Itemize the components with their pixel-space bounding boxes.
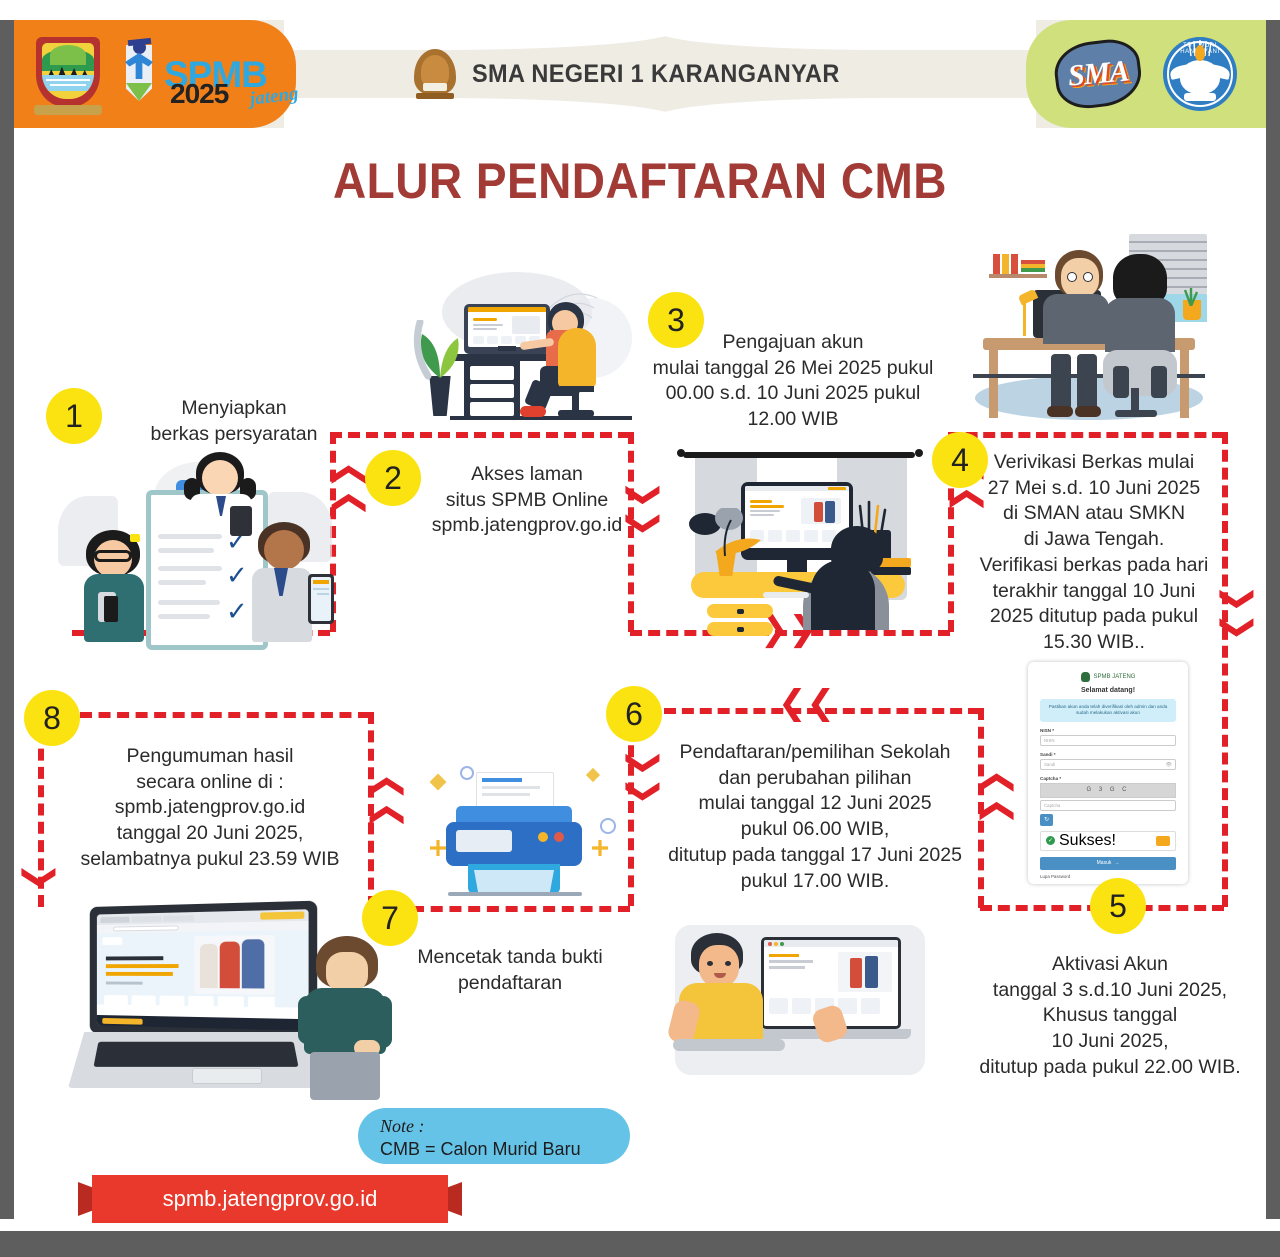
note-label: Note : (380, 1116, 616, 1137)
jateng-provincial-emblem-icon (32, 33, 104, 115)
sma-badge-label: SMA (1066, 54, 1129, 93)
step-text-4: Verivikasi Berkas mulai 27 Mei s.d. 10 J… (968, 450, 1220, 656)
step-badge-8: 8 (24, 690, 80, 746)
step-text-1: Menyiapkan berkas persyaratan (96, 396, 372, 447)
frame-bottom-border (0, 1231, 1280, 1257)
arrow-2-up: ❯❯ (329, 461, 363, 518)
note-content: CMB = Calon Murid Baru (380, 1139, 616, 1160)
spmb-logo: SPMB 2025 jateng (116, 31, 267, 117)
infographic-page: SPMB 2025 jateng SMA NEGERI 1 KARANGANYA… (0, 0, 1280, 1257)
arrow-8-down: ❯ (23, 863, 57, 892)
student-girl-pigtails (180, 452, 264, 530)
tut-wuri-handayani-logo-icon: TUT WURI HANDAYANI (1163, 37, 1237, 111)
laptop-browser-mock (97, 909, 309, 1030)
form-nisn-label: NISN * (1040, 728, 1176, 733)
step-badge-4: 4 (932, 432, 988, 488)
frame-top-spacer (0, 0, 1280, 20)
frame-right-border (1266, 0, 1280, 1257)
arrow-6-left: ❯❯ (778, 690, 835, 724)
frame-left-border (0, 0, 14, 1257)
step-badge-3: 3 (648, 292, 704, 348)
spmb-pencil-figure-icon (116, 39, 162, 109)
step-badge-6: 6 (606, 686, 662, 742)
step-text-7: Mencetak tanda bukti pendaftaran (380, 945, 640, 996)
connector-4-top-horizontal (948, 432, 1224, 438)
form-recaptcha-widget[interactable]: ✓ Sukses! (1040, 831, 1176, 851)
form-alert-message: Pastikan akun anda telah diverifikasi ol… (1040, 699, 1176, 722)
header-center: SMA NEGERI 1 KARANGANYAR (414, 20, 863, 128)
connector-7-bottom-horizontal (412, 906, 630, 912)
page-header: SPMB 2025 jateng SMA NEGERI 1 KARANGANYA… (14, 20, 1266, 128)
check-icon: ✓ (1046, 836, 1055, 845)
plant-decor-icon (685, 508, 771, 560)
plant-leaves-icon (410, 320, 470, 380)
school-name-title: SMA NEGERI 1 KARANGANYAR (472, 60, 840, 89)
form-brand: SPMB JATENG (1040, 672, 1176, 682)
header-right-panel: SMA TUT WURI HANDAYANI (1026, 20, 1266, 128)
step-text-2: Akses laman situs SPMB Online spmb.jaten… (412, 462, 642, 539)
note-box: Note : CMB = Calon Murid Baru (358, 1108, 630, 1164)
refresh-captcha-icon[interactable]: ↻ (1040, 814, 1053, 826)
form-welcome-heading: Selamat datang! (1040, 687, 1176, 694)
illustration-person-yellow-desk (655, 438, 945, 636)
form-captcha-label: Captcha * (1040, 776, 1176, 781)
step-text-5: Aktivasi Akun tanggal 3 s.d.10 Juni 2025… (960, 952, 1260, 1081)
illustration-login-form-mockup: SPMB JATENG Selamat datang! Pastikan aku… (1028, 662, 1188, 884)
eye-icon[interactable]: 👁 (1166, 762, 1172, 768)
illustration-boy-viewing-laptop (62, 900, 402, 1100)
page-title: ALUR PENDAFTARAN CMB (51, 152, 1229, 210)
step-badge-1: 1 (46, 388, 102, 444)
recaptcha-label: Sukses! (1059, 832, 1116, 850)
step-badge-2: 2 (365, 450, 421, 506)
form-nisn-input[interactable]: NISN (1040, 735, 1176, 746)
illustration-two-men-at-desk (965, 228, 1213, 424)
arrow-7-up: ❯❯ (367, 773, 401, 830)
form-captcha-image: G 3 G C (1040, 783, 1176, 798)
connector-8-top-horizontal (80, 712, 370, 718)
arrow-5-up: ❯❯ (977, 769, 1011, 826)
form-captcha-input[interactable]: Captcha (1040, 800, 1176, 811)
small-plant-icon (1179, 286, 1203, 306)
recaptcha-logo-icon (1156, 836, 1170, 846)
footer-website-text: spmb.jatengprov.go.id (163, 1186, 378, 1212)
illustration-boy-at-desktop (402, 268, 632, 436)
form-forgot-password-link[interactable]: Lupa Password (1040, 874, 1176, 879)
form-submit-button[interactable]: Masuk→ (1040, 857, 1176, 870)
step-text-6: Pendaftaran/pemilihan Sekolah dan peruba… (650, 740, 980, 894)
student-boy-phone (248, 522, 334, 642)
arrow-4-down: ❯❯ (1221, 585, 1255, 642)
step-badge-7: 7 (362, 890, 418, 946)
form-brand-icon (1081, 672, 1090, 682)
form-password-input[interactable]: Sandi 👁 (1040, 759, 1176, 770)
connector-4-right-vertical (1222, 432, 1228, 907)
school-emblem-icon (414, 49, 456, 99)
step-badge-5: 5 (1090, 878, 1146, 934)
step-text-8: Pengumuman hasil secara online di : spmb… (62, 744, 358, 873)
illustration-students-with-checklist: ✓ ✓ ✓ (58, 452, 334, 642)
footer-website-ribbon[interactable]: spmb.jatengprov.go.id (92, 1175, 448, 1223)
sma-graffiti-badge-icon: SMA (1051, 36, 1144, 112)
spmb-wordmark: SPMB 2025 jateng (164, 56, 267, 93)
illustration-man-with-laptop (665, 915, 935, 1090)
form-password-label: Sandi * (1040, 752, 1176, 757)
illustration-printer (412, 760, 622, 900)
spmb-logo-year: 2025 (170, 78, 228, 110)
student-girl-glasses (78, 530, 154, 642)
header-left-panel: SPMB 2025 jateng (14, 20, 296, 128)
